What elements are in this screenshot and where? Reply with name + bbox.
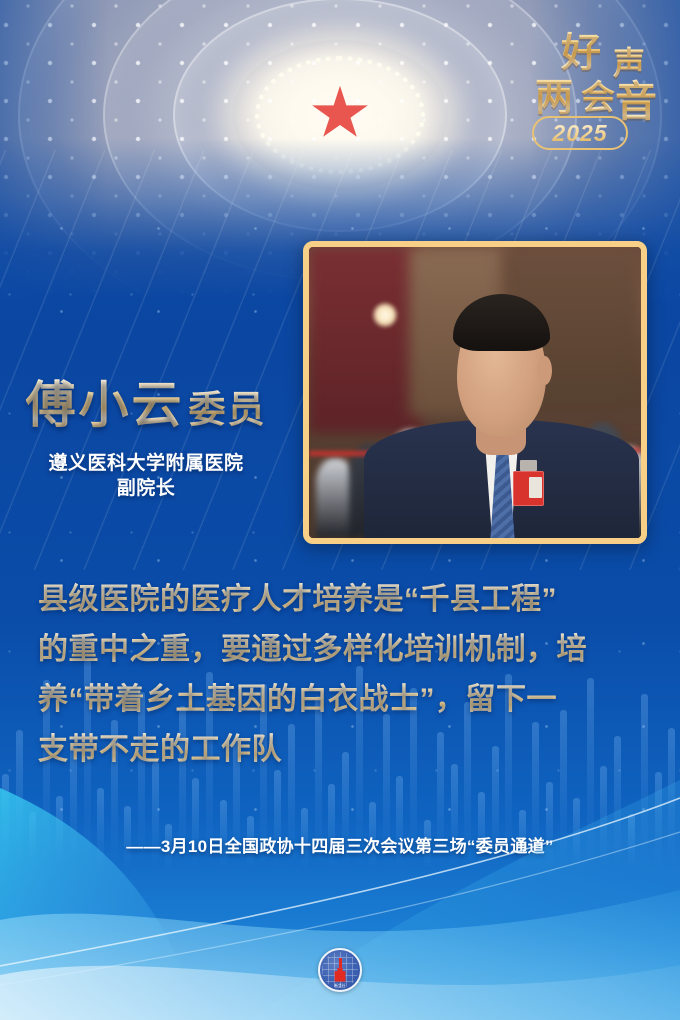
speaker-name: 傅小云 [26,377,185,433]
poster-root: 好 声 两 会 音 2025 [0,0,680,1020]
delegate-badge-photo [529,477,542,499]
emblem-tower-spire [339,958,342,968]
quote-block: 县级医院的医疗人才培养是“千县工程” 的重中之重，要通过多样化培训机制，培 养“… [38,578,646,778]
quote-line: 县级医院的医疗人才培养是“千县工程” [38,578,646,622]
speaker-name-block: 傅小云委员 遵义医科大学附属医院 副院长 [0,365,292,502]
quote-line: 养“带着乡土基因的白衣战士”，留下一 [38,678,646,722]
xinhua-logo-icon: 新华社 [318,948,362,992]
logo-year-text: 2025 [552,120,607,147]
logo-char-hui: 会 [581,70,616,119]
subject-ear [537,356,552,385]
logo-year-badge: 2025 [532,116,628,150]
speaker-portrait-frame [303,241,647,544]
logo-char-liang: 两 [535,66,574,121]
delegate-badge [513,471,545,506]
quote-line: 支带不走的工作队 [38,728,646,772]
emblem-caption: 新华社 [320,983,360,989]
subject-hair [453,294,550,350]
speaker-affiliation: 遵义医科大学附属医院 副院长 [0,451,292,502]
speaker-name-line: 傅小云委员 [0,365,292,437]
program-logo: 好 声 两 会 音 2025 [512,18,662,168]
speaker-position: 副院长 [0,476,292,501]
subject-badge-clip [520,460,537,471]
emblem-tower-body [332,967,349,982]
speaker-role-suffix: 委员 [189,389,267,430]
speaker-photo [309,247,641,538]
speaker-organization: 遵义医科大学附属医院 [0,451,292,476]
photo-subject [409,270,595,538]
quote-line: 的重中之重，要通过多样化培训机制，培 [38,628,646,672]
emblem-tower [332,958,349,982]
